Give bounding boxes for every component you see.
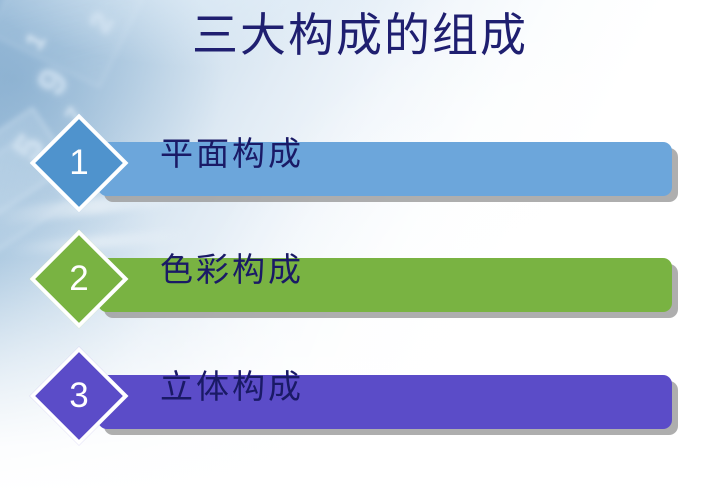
content-bar-label-3: 立体构成	[160, 357, 304, 411]
presentation-slide: 2 1 9 7 5 三大构成的组成 平面构成 1 色彩构成 2	[0, 0, 720, 495]
list-item-row-1[interactable]: 平面构成 1	[0, 124, 720, 220]
content-bar-label-1: 平面构成	[160, 124, 304, 178]
list-item-row-2[interactable]: 色彩构成 2	[0, 240, 720, 336]
content-bar-label-2: 色彩构成	[160, 240, 304, 294]
slide-content-rows: 平面构成 1 色彩构成 2 立体构成 3	[0, 0, 720, 495]
list-item-row-3[interactable]: 立体构成 3	[0, 357, 720, 453]
